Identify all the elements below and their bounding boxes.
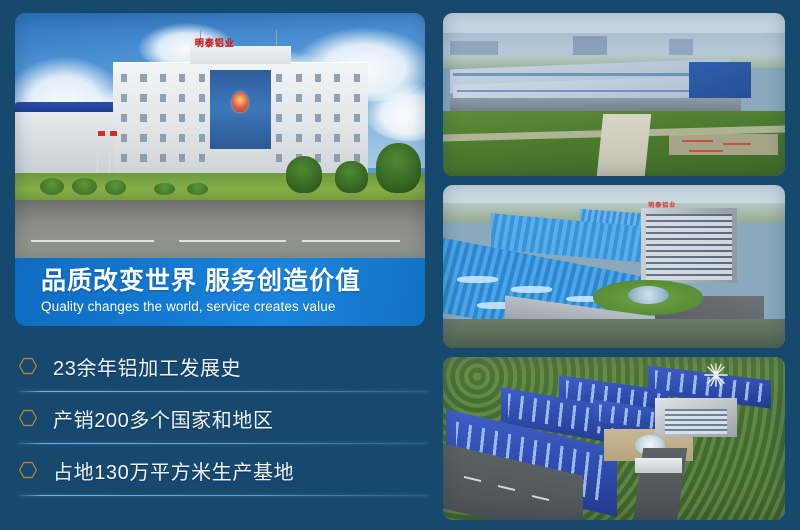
main-office-building: 明泰铝业 [113,62,367,173]
aerial-plant-overview[interactable] [443,13,785,176]
vehicle [723,143,750,145]
road-ground [15,200,425,259]
ground [443,319,785,348]
glass-facade [210,70,271,149]
side-workshop-building [15,111,118,173]
road-marking [179,240,286,242]
list-item[interactable]: 占地130万平方米生产基地 [0,444,435,496]
tower-windows [646,214,732,280]
hexagon-bullet-icon [18,408,38,428]
promo-banner-page: 明泰铝业 [0,0,800,530]
gallery-column: 明泰铝业 [443,13,785,529]
window-grid-right [276,74,360,162]
feature-list: 23余年铝加工发展史 产销200多个国家和地区 占地130万平方米生产基地 [0,340,435,496]
industrial-park-rendering[interactable] [443,357,785,520]
tree [335,161,368,193]
left-column: 明泰铝业 [0,0,435,530]
distant-building [573,36,607,56]
pinwheel-sparkle-icon [703,362,729,388]
roof-ridge [453,73,727,75]
vehicle [682,140,713,142]
roof-ridge [457,90,724,92]
shrub [187,183,208,195]
window-grid-left [121,74,205,162]
entrance-gate [635,458,683,473]
main-office-block [655,398,737,437]
shrub [72,178,97,195]
vehicle [689,150,723,152]
blue-roof-section [689,62,751,98]
list-item-label: 产销200多个国家和地区 [53,404,274,433]
distant-building [669,39,693,55]
shrub [40,178,65,195]
flag [98,131,105,136]
roof-skylight [457,276,498,283]
hexagon-bullet-icon [18,460,38,480]
slogan-chinese: 品质改变世界 服务创造价值 [41,266,425,297]
flag-pole [97,131,98,173]
list-item[interactable]: 产销200多个国家和地区 [0,392,435,444]
roof-sign-text: 明泰铝业 [195,36,235,49]
list-divider [18,495,428,496]
tree [286,156,323,193]
distant-building [450,41,498,56]
flag [110,131,117,136]
flag-pole [109,131,110,173]
shrub [154,183,175,195]
blue-roof [15,102,118,112]
slogan-english: Quality changes the world, service creat… [41,299,425,314]
tower-sign-text: 明泰铝业 [648,200,723,208]
slogan-banner: 品质改变世界 服务创造价值 Quality changes the world,… [15,258,425,326]
roof-skylight [511,286,552,293]
office-glass-facade [665,409,727,434]
tree [376,143,421,192]
road-marking [302,240,400,242]
list-item-label: 23余年铝加工发展史 [53,352,241,381]
shrub [105,180,126,195]
company-headquarters-photo: 明泰铝业 [15,13,425,259]
main-driveway [597,114,651,176]
list-item[interactable]: 23余年铝加工发展史 [0,340,435,392]
antenna [276,30,277,45]
list-item-label: 占地130万平方米生产基地 [53,456,294,485]
fountain [628,286,669,304]
road-marking [31,240,154,242]
hexagon-bullet-icon [18,356,38,376]
company-logo-emblem [233,92,249,113]
plant-and-office-tower[interactable]: 明泰铝业 [443,185,785,348]
office-tower [641,208,737,283]
